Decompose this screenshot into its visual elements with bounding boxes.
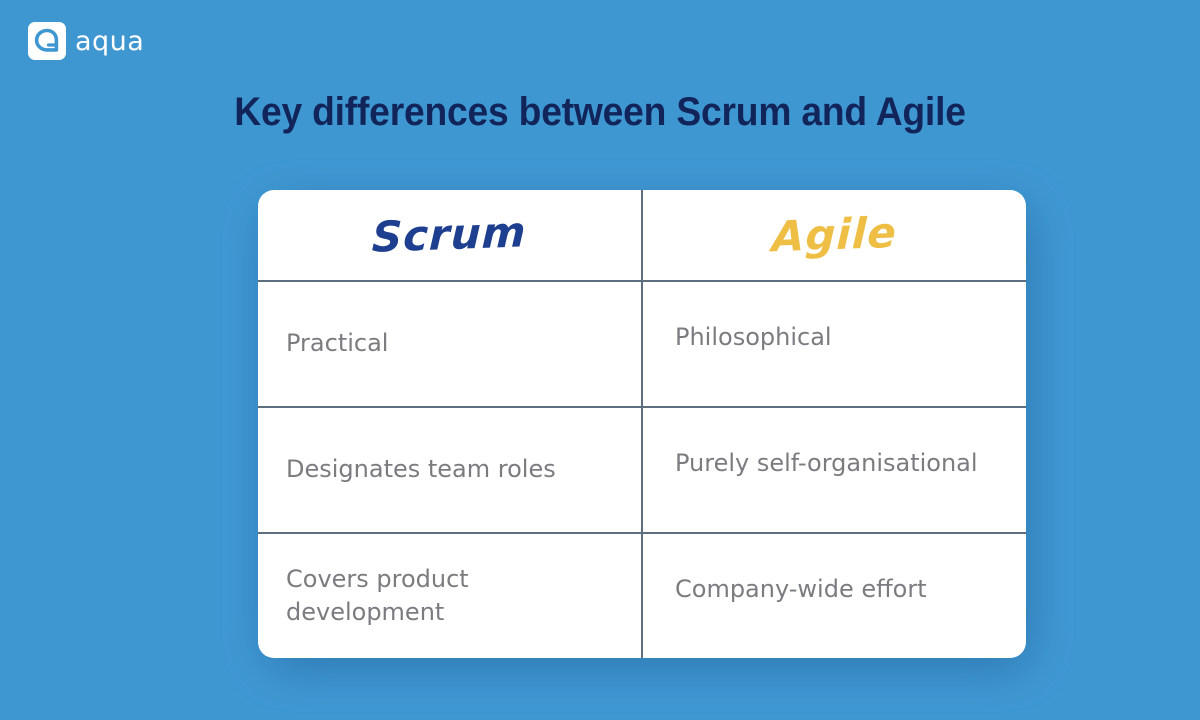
cell-agile-3-text: Company-wide effort [643,573,1026,606]
column-header-scrum-label: Scrum [371,208,527,262]
column-header-scrum: Scrum [258,190,642,281]
cell-scrum-2: Designates team roles [258,407,642,533]
cell-agile-1: Philosophical [642,281,1026,407]
table-row: Covers product development Company-wide … [258,533,1026,658]
table-row: Designates team roles Purely self-organi… [258,407,1026,533]
cell-scrum-3: Covers product development [258,533,642,658]
cell-scrum-3-text: Covers product development [258,563,641,629]
cell-scrum-2-text: Designates team roles [258,453,641,486]
page-title: Key differences between Scrum and Agile [42,90,1158,135]
table-row: Practical Philosophical [258,281,1026,407]
cell-scrum-1: Practical [258,281,642,407]
comparison-table: Scrum Agile Practical Philosophical Desi… [258,190,1026,658]
cell-agile-1-text: Philosophical [643,321,1026,354]
page-root: { "brand": { "name": "aqua", "logo_icon"… [0,0,1200,720]
brand-logo[interactable]: aqua [28,22,144,60]
comparison-card: Scrum Agile Practical Philosophical Desi… [258,190,1026,658]
brand-wordmark: aqua [75,28,144,55]
cell-agile-2: Purely self-organisational [642,407,1026,533]
table-header-row: Scrum Agile [258,190,1026,281]
aqua-speech-bubble-logo-icon [28,22,66,60]
cell-scrum-1-text: Practical [258,327,641,360]
cell-agile-3: Company-wide effort [642,533,1026,658]
column-header-agile-label: Agile [771,208,897,261]
column-header-agile: Agile [642,190,1026,281]
cell-agile-2-text: Purely self-organisational [643,447,1026,480]
